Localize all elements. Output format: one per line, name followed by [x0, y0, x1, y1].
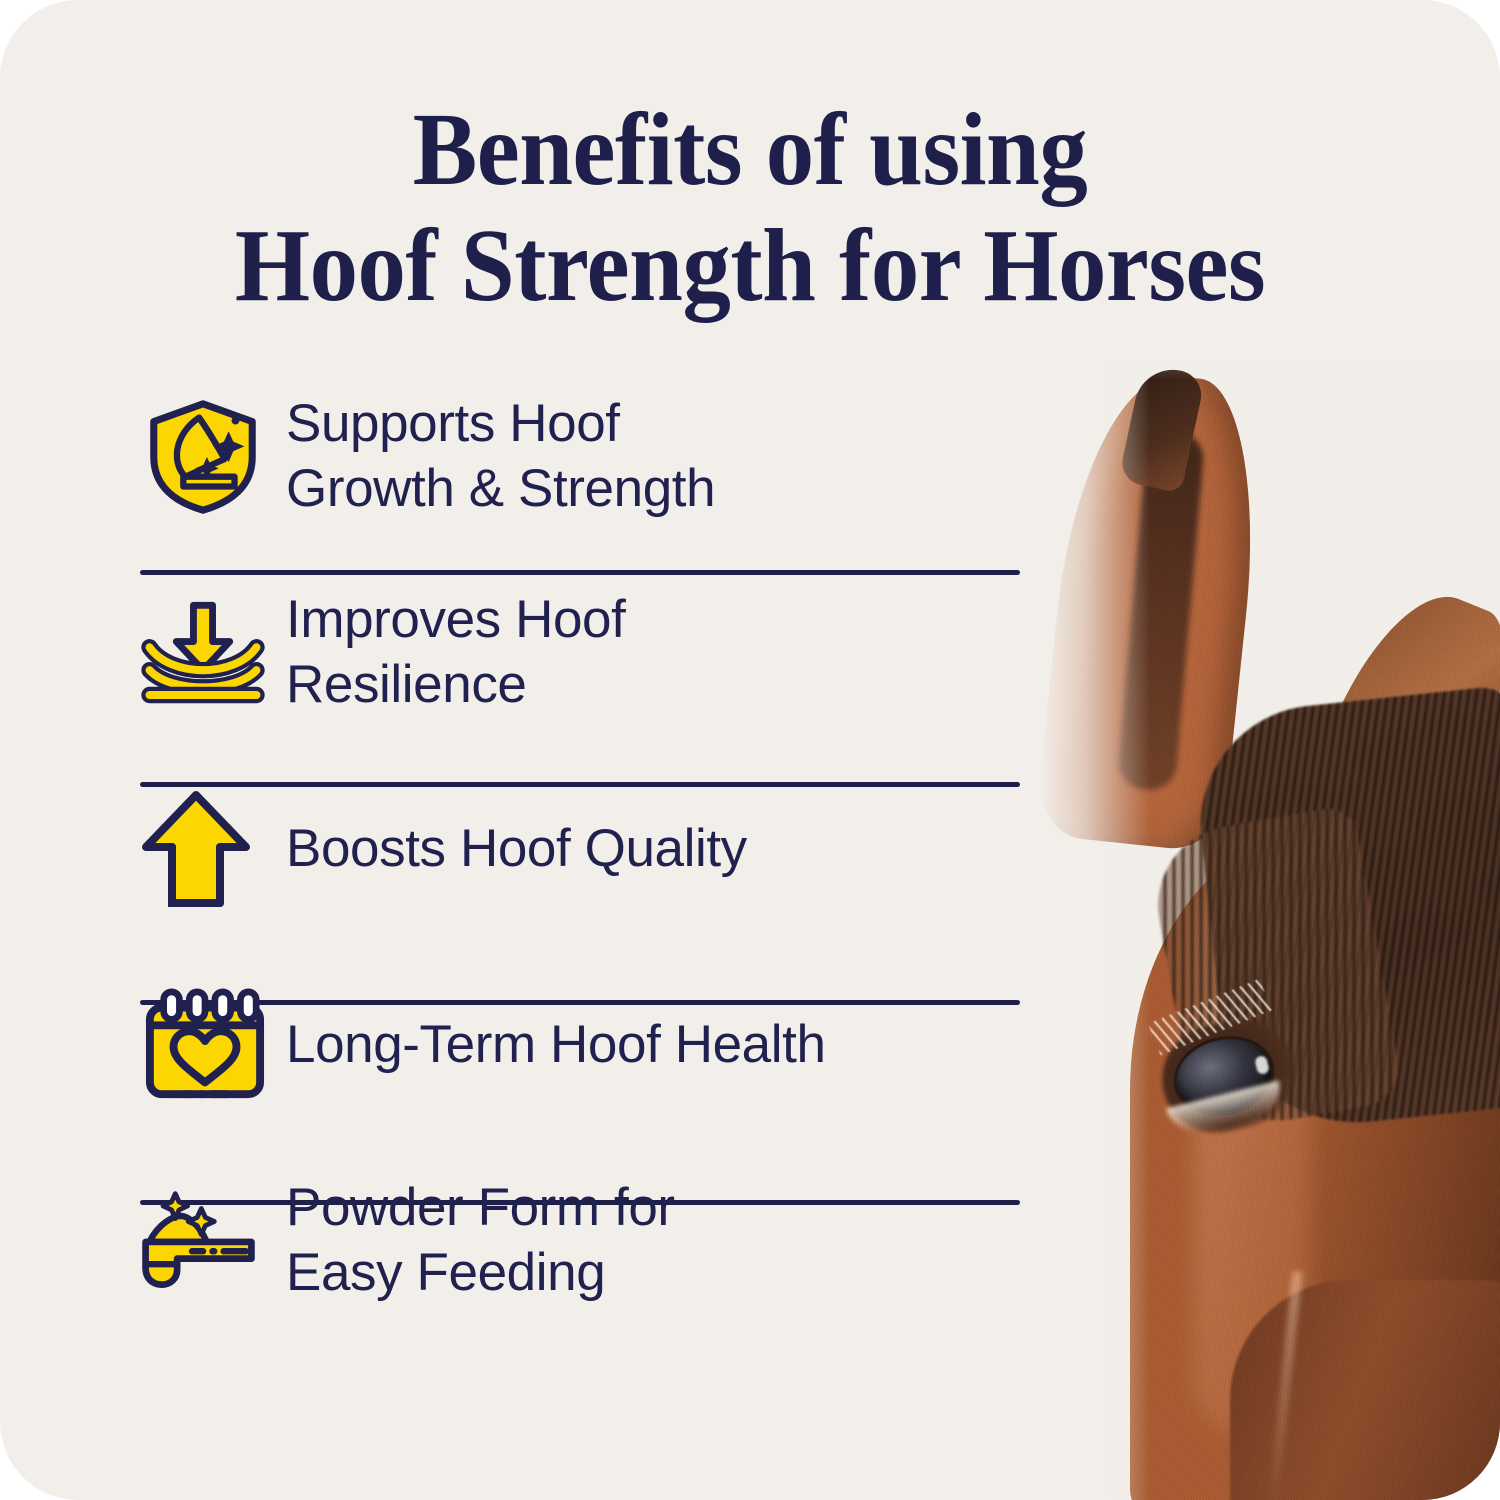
arrow-up-icon — [140, 786, 270, 912]
benefit-item-4: Long-Term Hoof Health — [0, 970, 1060, 1120]
powder-scoop-sparkle-icon — [140, 1186, 270, 1296]
page-title-line-2: Hoof Strength for Horses — [53, 208, 1448, 324]
calendar-heart-icon — [140, 984, 270, 1106]
benefit-item-1: Supports Hoof Growth & Strength — [0, 382, 1060, 532]
benefit-label-3: Boosts Hoof Quality — [270, 817, 747, 882]
page-title-line-1: Benefits of using — [53, 92, 1448, 208]
benefits-list: Supports Hoof Growth & Strength Improves… — [0, 382, 1060, 1316]
benefit-label-2: Improves Hoof Resilience — [270, 588, 625, 717]
benefit-item-5: Powder Form for Easy Feeding — [0, 1166, 1060, 1316]
benefit-divider-1 — [140, 570, 1020, 575]
page-title: Benefits of using Hoof Strength for Hors… — [53, 92, 1448, 325]
benefit-label-1: Supports Hoof Growth & Strength — [270, 392, 715, 521]
benefit-item-3: Boosts Hoof Quality — [0, 774, 1060, 924]
benefit-label-4: Long-Term Hoof Health — [270, 1013, 826, 1078]
infographic-card: Benefits of using Hoof Strength for Hors… — [0, 0, 1500, 1500]
benefit-item-2: Improves Hoof Resilience — [0, 578, 1060, 728]
benefit-label-5: Powder Form for Easy Feeding — [270, 1176, 675, 1305]
arrow-down-cushion-layers-icon — [140, 597, 270, 709]
horse-muzzle — [1230, 1280, 1500, 1500]
shield-hoof-sparkle-icon — [140, 394, 270, 520]
